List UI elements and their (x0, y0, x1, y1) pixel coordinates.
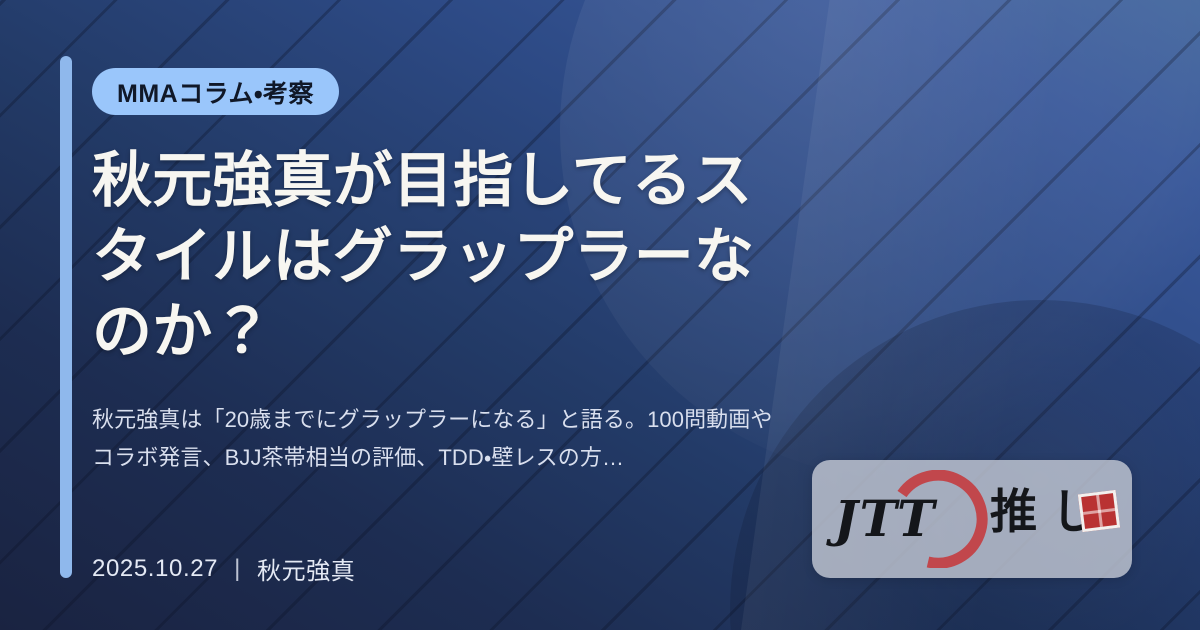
logo-wordmark: JTT (834, 494, 936, 544)
author-name: 秋元強真 (257, 551, 355, 586)
card-content: MMAコラム・考察 秋元強真が目指してるスタイルはグラップラーなのか？ 秋元強真… (92, 0, 812, 630)
ogp-card: MMAコラム・考察 秋元強真が目指してるスタイルはグラップラーなのか？ 秋元強真… (0, 0, 1200, 630)
article-meta: 2025.10.27 | 秋元強真 (92, 551, 355, 586)
site-logo-badge[interactable]: JTT 推し (812, 460, 1132, 578)
left-accent-bar (60, 56, 72, 578)
category-badge[interactable]: MMAコラム・考察 (92, 68, 339, 115)
red-square-icon (1078, 490, 1120, 532)
publish-date: 2025.10.27 (92, 555, 218, 583)
meta-separator: | (234, 555, 241, 583)
page-title: 秋元強真が目指してるスタイルはグラップラーなのか？ (92, 143, 792, 370)
logo-inner: JTT 推し (812, 460, 1132, 578)
article-description: 秋元強真は「20歳までにグラップラーになる」と語る。100問動画やコラボ発言、B… (92, 401, 792, 477)
